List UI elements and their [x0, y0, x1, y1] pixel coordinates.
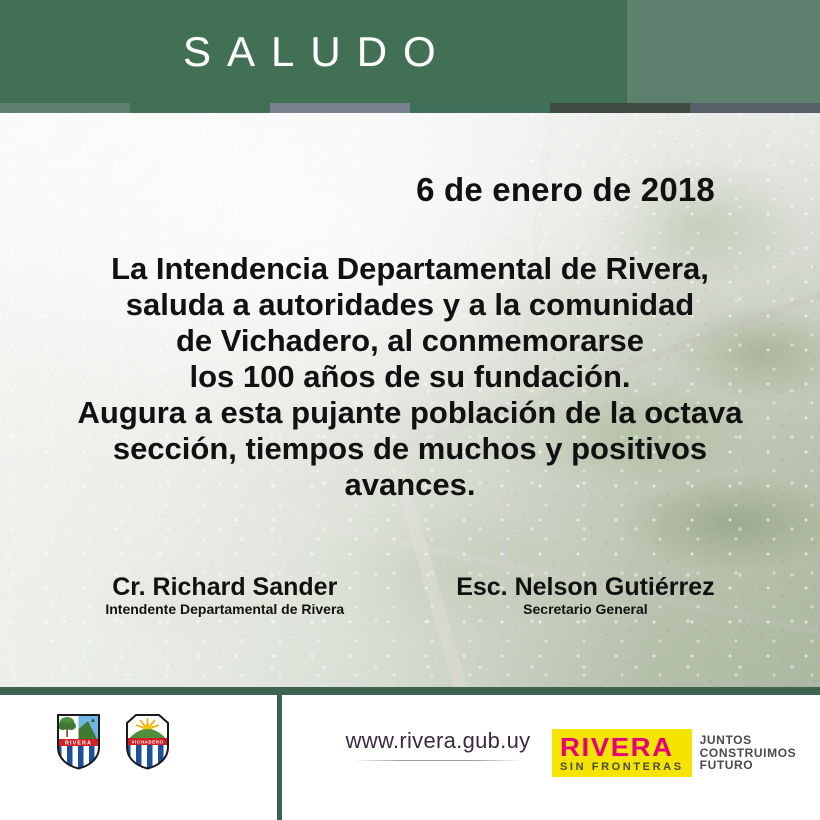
signature-name: Esc. Nelson Gutiérrez: [456, 573, 714, 601]
content-area: 6 de enero de 2018 La Intendencia Depart…: [0, 103, 820, 690]
vichadero-coat-of-arms-icon: VICHADERO: [124, 713, 171, 770]
brand-name: RIVERA: [560, 734, 691, 760]
signature-name: Cr. Richard Sander: [105, 573, 344, 601]
signature-role: Intendente Departamental de Rivera: [105, 601, 344, 618]
signature-role: Secretario General: [456, 601, 714, 618]
footer-vertical-divider: [277, 695, 282, 820]
event-date: 6 de enero de 2018: [416, 171, 715, 209]
greeting-line-4: los 100 años de su fundación.: [0, 359, 820, 395]
brand-tagline: JUNTOSCONSTRUIMOSFUTURO: [700, 734, 797, 772]
saludo-poster: SALUDO 6 de enero de 2018 La Intendencia…: [0, 0, 820, 820]
coat-of-arms-group: RIVERA: [55, 713, 171, 770]
stripe-block-3: [270, 103, 410, 113]
greeting-line-7: avances.: [0, 467, 820, 503]
greeting-line-3: de Vichadero, al conmemorarse: [0, 323, 820, 359]
footer-top-bar: [0, 687, 820, 695]
rivera-brand-logo: RIVERA SIN FRONTERAS JUNTOSCONSTRUIMOSFU…: [552, 729, 796, 777]
brand-tagline-line-3: FUTURO: [700, 759, 797, 772]
greeting-line-1: La Intendencia Departamental de Rivera,: [0, 251, 820, 287]
brand-yellow-box: RIVERA SIN FRONTERAS: [552, 729, 692, 777]
decorative-stripe: [0, 103, 820, 113]
stripe-block-1: [0, 103, 130, 113]
signature-row: Cr. Richard SanderIntendente Departament…: [0, 573, 820, 618]
stripe-block-4: [410, 103, 550, 113]
stripe-block-6: [690, 103, 820, 113]
rivera-coat-of-arms-icon: RIVERA: [55, 713, 102, 770]
greeting-line-2: saluda a autoridades y a la comunidad: [0, 287, 820, 323]
website-url-block[interactable]: www.rivera.gub.uy: [338, 728, 538, 761]
stripe-block-2: [130, 103, 270, 113]
brand-subtitle: SIN FRONTERAS: [560, 762, 684, 773]
stripe-block-5: [550, 103, 690, 113]
greeting-line-5: Augura a esta pujante población de la oc…: [0, 395, 820, 431]
url-underline: [353, 760, 523, 761]
svg-text:VICHADERO: VICHADERO: [131, 740, 163, 745]
website-url[interactable]: www.rivera.gub.uy: [338, 728, 538, 754]
greeting-line-6: sección, tiempos de muchos y positivos: [0, 431, 820, 467]
signature-2: Esc. Nelson GutiérrezSecretario General: [456, 573, 714, 618]
svg-text:RIVERA: RIVERA: [65, 741, 92, 747]
page-title: SALUDO: [0, 0, 820, 103]
brand-tagline-line-1: JUNTOS: [700, 734, 797, 747]
signature-1: Cr. Richard SanderIntendente Departament…: [105, 573, 344, 618]
greeting-paragraph: La Intendencia Departamental de Rivera,s…: [0, 251, 820, 503]
